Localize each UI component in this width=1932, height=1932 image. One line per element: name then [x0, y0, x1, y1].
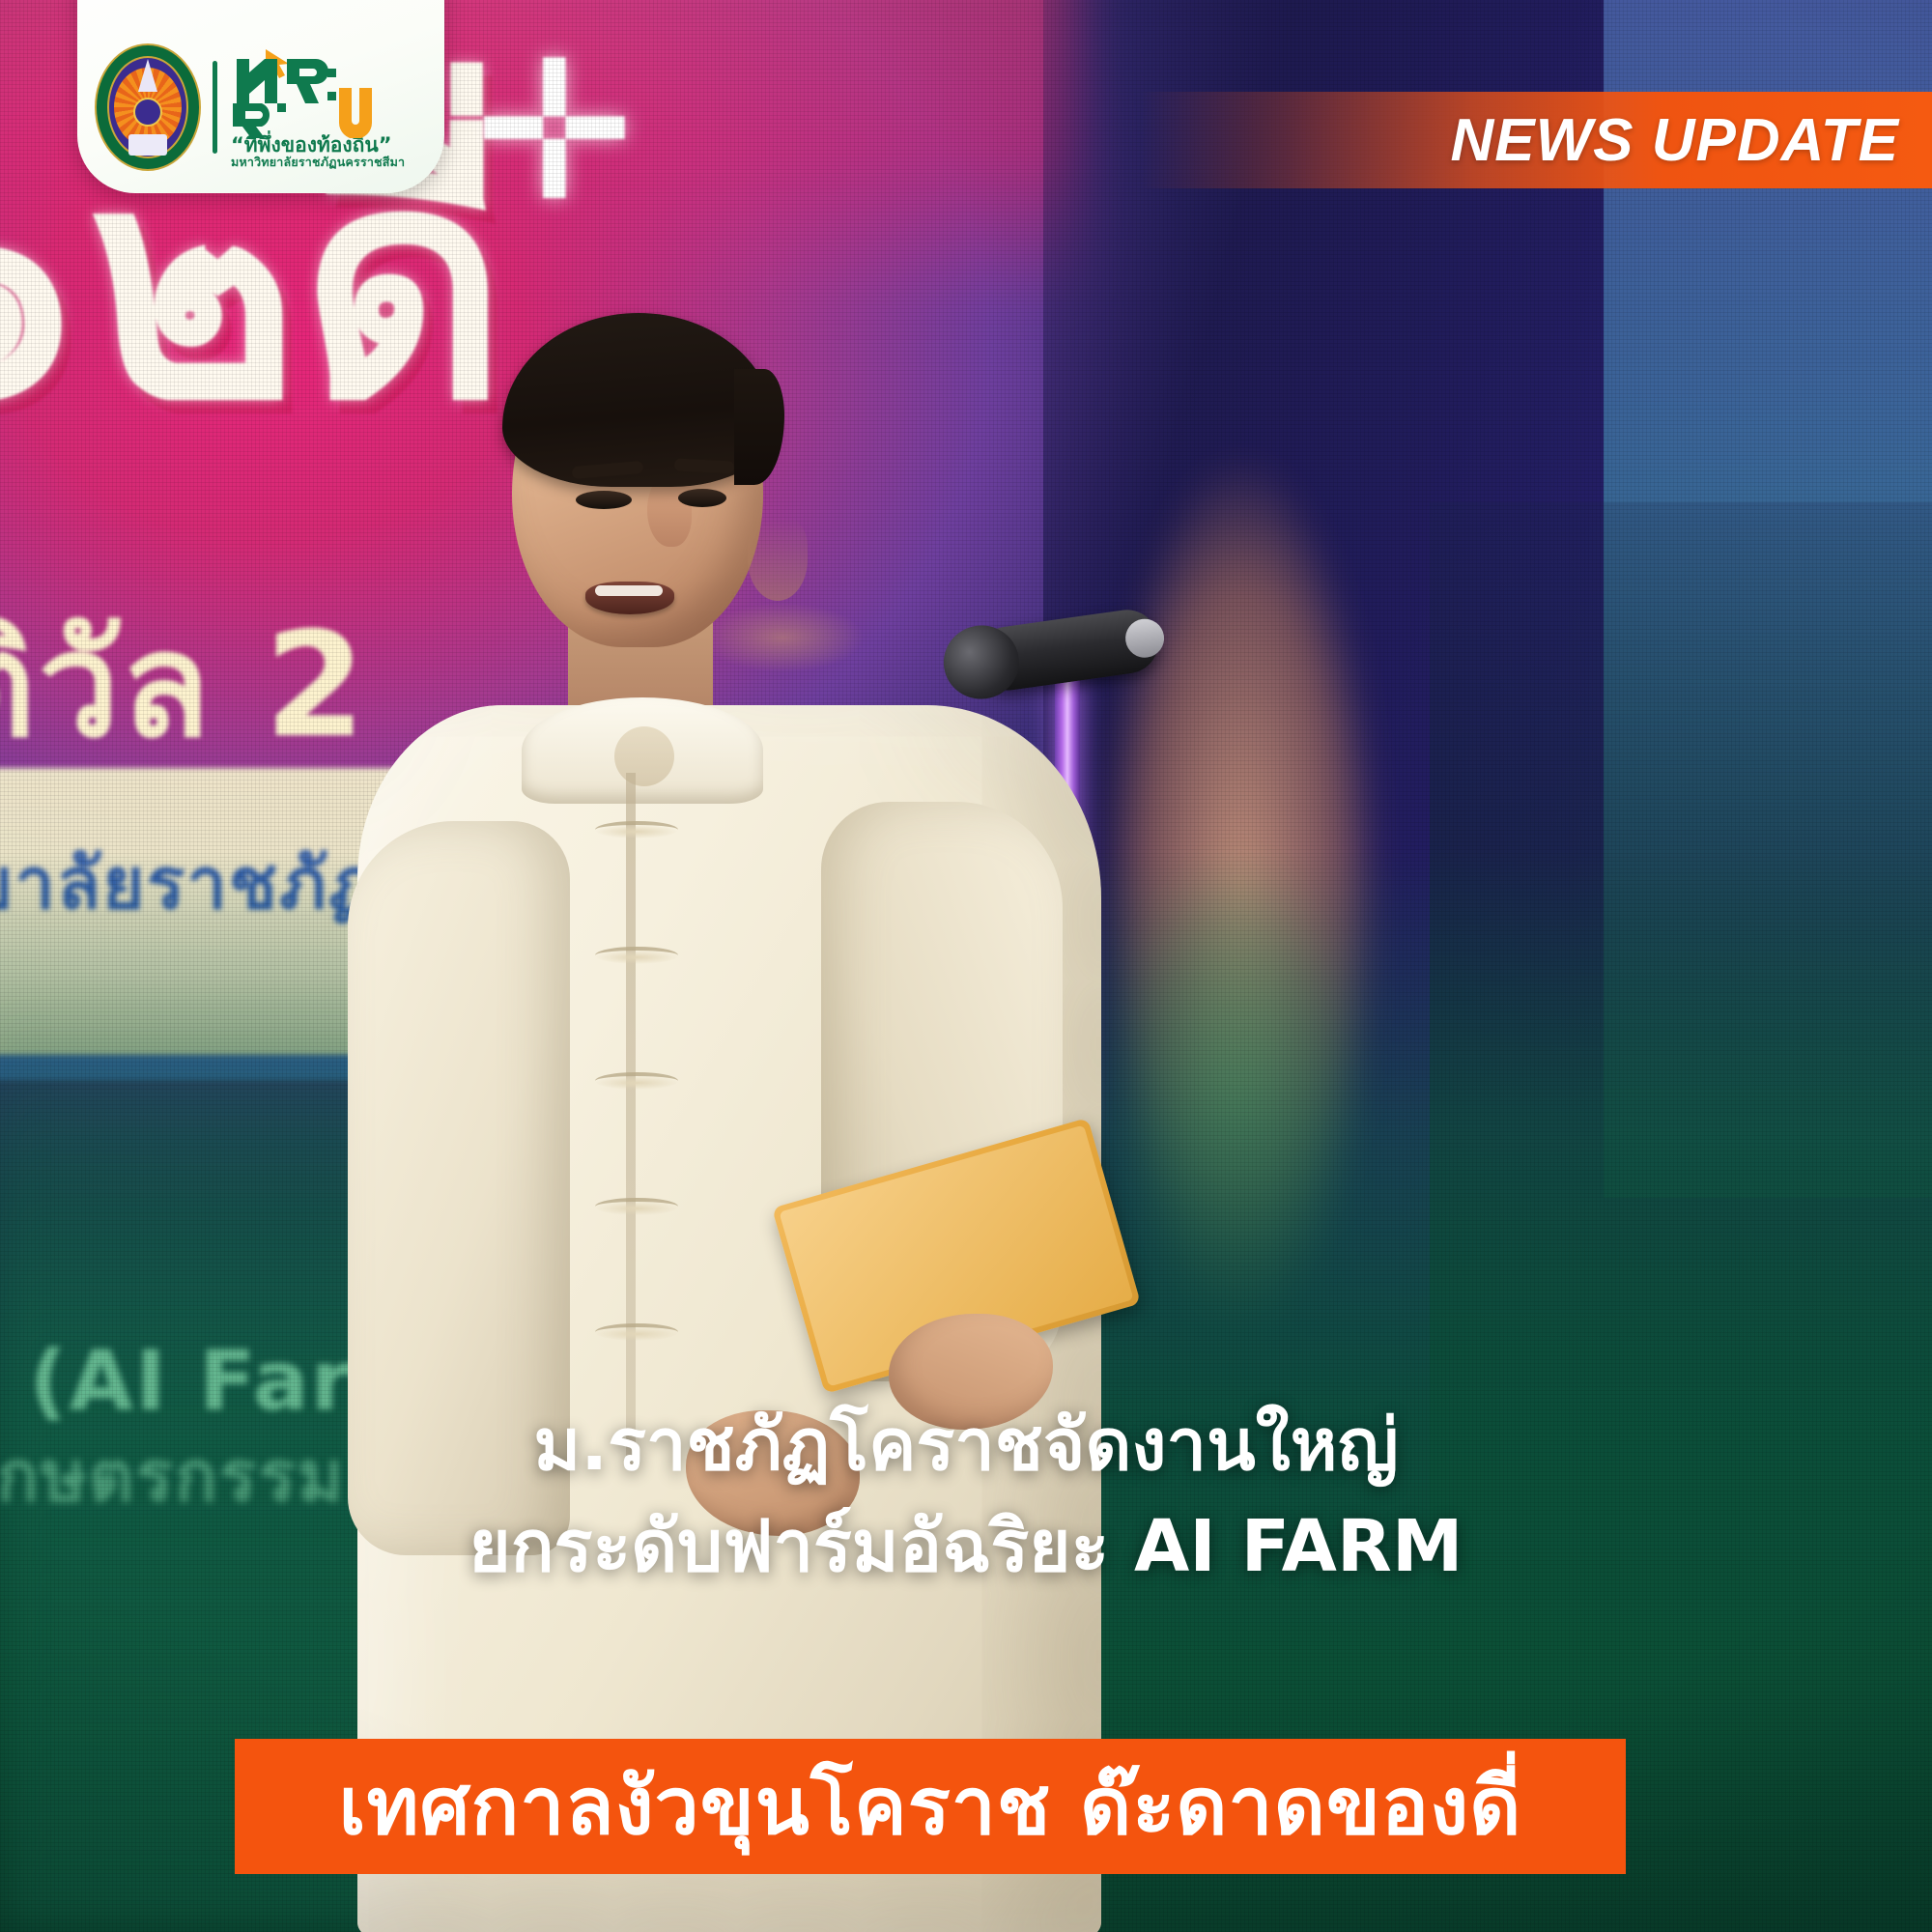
- nrru-subtitle: มหาวิทยาลัยราชภัฏนครราชสีมา: [231, 156, 444, 169]
- speaker-eye-left: [576, 491, 632, 509]
- speaker-shirt-fastener: [595, 821, 678, 838]
- speaker-shirt-fastener: [595, 947, 678, 964]
- event-photo: ๑๒ดี่ ✛ ติวัล 2 ยาลัยราชภัฏนคร ะ (AI Far…: [0, 0, 1932, 1932]
- nrru-wordmark: [231, 49, 444, 138]
- speaker-chin: [701, 603, 864, 672]
- university-seal-icon: [95, 43, 201, 171]
- headline-line-1: ม.ราชภัฏโคราชจัดงานใหญ่: [0, 1401, 1932, 1491]
- headline-block: ม.ราชภัฏโคราชจัดงานใหญ่ ยกระดับฟาร์มอัฉร…: [0, 1401, 1932, 1592]
- speaker-collar: [522, 697, 763, 804]
- event-title-text: เทศกาลงัวขุนโคราช ด๊ะดาดของดี่: [339, 1744, 1522, 1869]
- news-graphic: ๑๒ดี่ ✛ ติวัล 2 ยาลัยราชภัฏนคร ะ (AI Far…: [0, 0, 1932, 1932]
- news-update-label: NEWS UPDATE: [1450, 106, 1899, 175]
- nrru-logo-card[interactable]: “ที่พึ่งของท้องถิ่น” มหาวิทยาลัยราชภัฏนค…: [77, 0, 444, 193]
- headline-line-2: ยกระดับฟาร์มอัฉริยะ AI FARM: [0, 1502, 1932, 1592]
- speaker-shirt-fastener: [595, 1072, 678, 1090]
- speaker-mouth: [585, 582, 674, 614]
- speaker-eye-right: [678, 489, 726, 507]
- news-update-badge: NEWS UPDATE: [1140, 92, 1932, 188]
- speaker-nose: [748, 518, 808, 601]
- stage-screen-text-festival: ติวัล 2: [0, 570, 367, 800]
- speaker-shirt-placket: [626, 773, 636, 1468]
- speaker-person: [367, 319, 1101, 1932]
- speaker-shirt-fastener: [595, 1323, 678, 1341]
- stage-screen-plus-glyph: ✛: [473, 19, 638, 244]
- logo-divider: [213, 61, 217, 154]
- event-title-banner: เทศกาลงัวขุนโคราช ด๊ะดาดของดี่: [235, 1739, 1626, 1874]
- speaker-shirt-fastener: [595, 1198, 678, 1215]
